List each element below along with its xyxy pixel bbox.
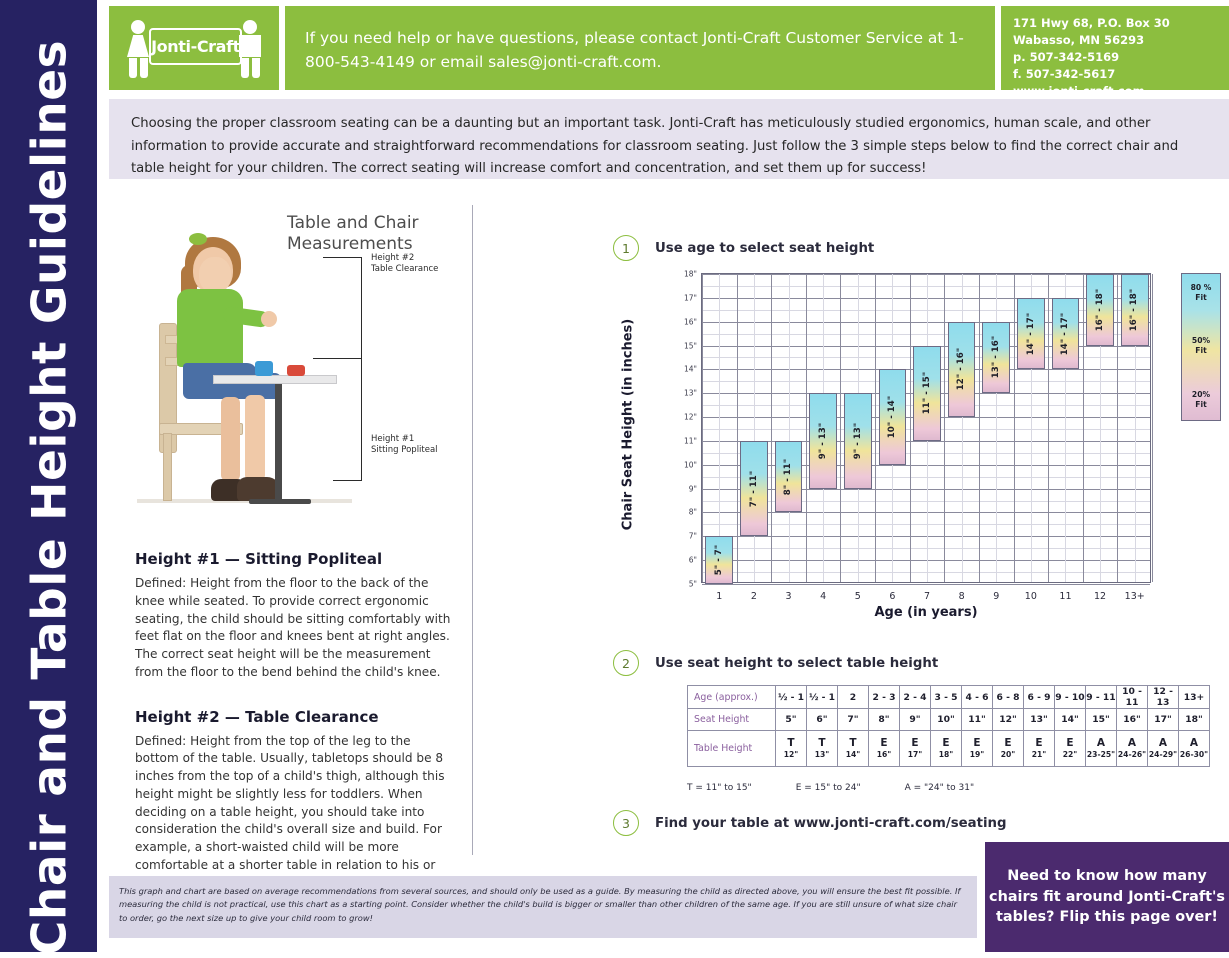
chart-vgridline — [1117, 274, 1118, 582]
table-cell: E16" — [869, 731, 900, 767]
legend-50-fit: 50% Fit — [1182, 336, 1220, 357]
chart-y-axis-label: Chair Seat Height (in inches) — [621, 300, 636, 550]
chart-y-tick: 12" — [684, 413, 697, 422]
table-cell: 10" — [931, 709, 962, 731]
step-3: 3 Find your table at www.jonti-craft.com… — [613, 810, 1007, 836]
chart-bar-label: 5" - 7" — [714, 545, 724, 575]
chart-legend: 80 % Fit 50% Fit 20% Fit — [1181, 273, 1221, 421]
callout-height-1: Height #1 Sitting Popliteal — [371, 434, 438, 457]
chart-bar-label: 12" - 16" — [957, 348, 967, 390]
chart-y-tick: 6" — [689, 556, 697, 565]
table-cell: E20" — [993, 731, 1024, 767]
callout-height-1-sub: Sitting Popliteal — [371, 445, 438, 456]
phone-line: p. 507-342-5169 — [1013, 49, 1170, 66]
chart-x-tick: 11 — [1059, 591, 1071, 602]
table-row-header: Age (approx.) — [688, 686, 776, 709]
step-1-number: 1 — [613, 235, 639, 261]
step-3-label[interactable]: Find your table at www.jonti-craft.com/s… — [655, 816, 1007, 831]
callout-height-2-sub: Table Clearance — [371, 264, 438, 275]
callout-height-1-title: Height #1 — [371, 434, 438, 445]
chart-x-tick: 8 — [959, 591, 965, 602]
chart-x-tick: 4 — [820, 591, 826, 602]
chart-x-tick: 10 — [1025, 591, 1037, 602]
chart-bar-label: 9" - 13" — [853, 423, 863, 459]
table-cell: 6 - 9 — [1024, 686, 1055, 709]
chart-y-tick: 18" — [684, 270, 697, 279]
chart-bar-label: 16" - 18" — [1095, 289, 1105, 331]
website-link[interactable]: www.jonti-craft.com — [1013, 83, 1170, 100]
table-cell: E17" — [900, 731, 931, 767]
chart-vgridline — [840, 274, 841, 582]
table-row: Table HeightT12"T13"T14"E16"E17"E18"E19"… — [688, 731, 1210, 767]
callout-height-2-title: Height #2 — [371, 253, 438, 264]
disclaimer-text: This graph and chart are based on averag… — [119, 885, 965, 925]
table-row-header: Seat Height — [688, 709, 776, 731]
key-t: T = 11" to 15" — [687, 783, 752, 793]
chart-bar-label: 8" - 11" — [784, 458, 794, 494]
table-cell: T14" — [838, 731, 869, 767]
jonti-craft-logo: Jonti-Craft — [109, 6, 279, 90]
chart-vgridline — [1048, 274, 1049, 582]
legend-20-fit: 20% Fit — [1182, 390, 1220, 411]
disclaimer-band: This graph and chart are based on averag… — [109, 876, 977, 938]
chart-x-tick: 7 — [924, 591, 930, 602]
table-cell: 7" — [838, 709, 869, 731]
table-key: T = 11" to 15" E = 15" to 24" A = "24" t… — [687, 783, 1007, 793]
contact-message: If you need help or have questions, plea… — [305, 26, 985, 74]
chart-bar: 12" - 16" — [948, 322, 976, 417]
step-2-label: Use seat height to select table height — [655, 656, 938, 671]
table-cell: E21" — [1024, 731, 1055, 767]
chart-y-tick: 14" — [684, 365, 697, 374]
chart-x-tick: 2 — [751, 591, 757, 602]
chart-vgridline — [1083, 274, 1084, 582]
seat-height-chart: Chair Seat Height (in inches) 5"6"7"8"9"… — [645, 267, 1229, 627]
chart-bar: 9" - 13" — [809, 393, 837, 488]
step-1: 1 Use age to select seat height — [613, 235, 874, 261]
table-cell: 15" — [1086, 709, 1117, 731]
address-line-1: 171 Hwy 68, P.O. Box 30 — [1013, 15, 1170, 32]
chart-bar-label: 13" - 16" — [991, 336, 1001, 378]
table-cell: 9 - 10 — [1055, 686, 1086, 709]
chart-bar: 8" - 11" — [775, 441, 803, 513]
table-cell: 18" — [1179, 709, 1210, 731]
chart-vgridline — [979, 274, 980, 582]
chart-bar: 11" - 15" — [913, 346, 941, 441]
table-cell: 13+ — [1179, 686, 1210, 709]
table-cell: A23-25" — [1086, 731, 1117, 767]
height2-heading: Height #2 — Table Clearance — [135, 708, 455, 726]
logo-wordmark: Jonti-Craft — [151, 37, 240, 56]
key-a: A = "24" to 31" — [905, 783, 975, 793]
page-body: Jonti-Craft If you need help or have que… — [97, 0, 1229, 952]
chart-x-tick: 9 — [993, 591, 999, 602]
table-cell: 16" — [1117, 709, 1148, 731]
chart-bar: 9" - 13" — [844, 393, 872, 488]
sizing-table: Age (approx.)½ - 1½ - 122 - 32 - 43 - 54… — [687, 685, 1210, 767]
chart-y-tick: 15" — [684, 341, 697, 350]
chart-bar: 10" - 14" — [879, 369, 907, 464]
chart-vgridline-minor — [789, 274, 790, 582]
chart-bar: 14" - 17" — [1017, 298, 1045, 370]
table-row: Seat Height5"6"7"8"9"10"11"12"13"14"15"1… — [688, 709, 1210, 731]
height1-heading: Height #1 — Sitting Popliteal — [135, 550, 455, 568]
fax-line: f. 507-342-5617 — [1013, 66, 1170, 83]
chart-x-tick: 12 — [1094, 591, 1106, 602]
chart-vgridline — [702, 274, 703, 582]
chart-vgridline — [737, 274, 738, 582]
step-2-number: 2 — [613, 650, 639, 676]
chart-vgridline — [806, 274, 807, 582]
table-cell: T13" — [807, 731, 838, 767]
key-e: E = 15" to 24" — [796, 783, 861, 793]
table-cell: E18" — [931, 731, 962, 767]
table-row: Age (approx.)½ - 1½ - 122 - 32 - 43 - 54… — [688, 686, 1210, 709]
table-cell: ½ - 1 — [776, 686, 807, 709]
table-cell: 17" — [1148, 709, 1179, 731]
table-cell: A24-26" — [1117, 731, 1148, 767]
chart-bar: 7" - 11" — [740, 441, 768, 536]
legend-80-fit: 80 % Fit — [1182, 283, 1220, 304]
chart-y-tick: 8" — [689, 508, 697, 517]
page-title: Chair and Table Height Guidelines — [23, 38, 78, 958]
chart-bar-label: 10" - 14" — [887, 396, 897, 438]
chart-y-tick: 9" — [689, 484, 697, 493]
chart-y-tick: 5" — [689, 580, 697, 589]
chart-bar-label: 9" - 13" — [818, 423, 828, 459]
chart-bar: 16" - 18" — [1121, 274, 1149, 346]
chart-x-tick: 13+ — [1125, 591, 1145, 602]
chart-y-tick: 11" — [684, 436, 697, 445]
table-cell: 10 - 11 — [1117, 686, 1148, 709]
chart-x-tick: 3 — [786, 591, 792, 602]
chart-vgridline — [910, 274, 911, 582]
definition-blocks: Height #1 — Sitting Popliteal Defined: H… — [135, 550, 455, 918]
chart-bar-label: 7" - 11" — [749, 470, 759, 506]
table-cell: E19" — [962, 731, 993, 767]
chart-vgridline — [875, 274, 876, 582]
table-cell: 12 - 13 — [1148, 686, 1179, 709]
step-3-number: 3 — [613, 810, 639, 836]
chart-vgridline-minor — [996, 274, 997, 582]
measurement-callouts: Height #2 Table Clearance Height #1 Sitt… — [313, 227, 473, 527]
chart-y-tick: 16" — [684, 317, 697, 326]
chart-y-tick: 17" — [684, 293, 697, 302]
chart-x-axis-label: Age (in years) — [701, 605, 1151, 620]
step-2: 2 Use seat height to select table height — [613, 650, 938, 676]
chart-bar-label: 14" - 17" — [1026, 312, 1036, 354]
chart-bar: 16" - 18" — [1086, 274, 1114, 346]
header: Jonti-Craft If you need help or have que… — [109, 6, 1229, 90]
table-cell: 11" — [962, 709, 993, 731]
chart-bar: 5" - 7" — [705, 536, 733, 584]
chart-x-tick: 6 — [889, 591, 895, 602]
chart-bar-label: 14" - 17" — [1060, 312, 1070, 354]
table-cell: 13" — [1024, 709, 1055, 731]
chart-y-tick: 7" — [689, 532, 697, 541]
table-cell: A24-29" — [1148, 731, 1179, 767]
chart-vgridline-minor — [962, 274, 963, 582]
chart-bar: 13" - 16" — [982, 322, 1010, 394]
table-cell: 2 — [838, 686, 869, 709]
table-cell: E22" — [1055, 731, 1086, 767]
table-cell: ½ - 1 — [807, 686, 838, 709]
table-cell: 3 - 5 — [931, 686, 962, 709]
chart-plot-area: 5"6"7"8"9"10"11"12"13"14"15"16"17"18"123… — [701, 273, 1151, 583]
address-line-2: Wabasso, MN 56293 — [1013, 32, 1170, 49]
chart-bar: 14" - 17" — [1052, 298, 1080, 370]
chart-x-tick: 1 — [716, 591, 722, 602]
logo-girl-figure-icon — [125, 20, 151, 78]
table-cell: 9 - 11 — [1086, 686, 1117, 709]
sidebar-banner: Chair and Table Height Guidelines — [0, 0, 97, 952]
intro-text: Choosing the proper classroom seating ca… — [131, 113, 1209, 181]
intro-band: Choosing the proper classroom seating ca… — [109, 99, 1229, 179]
table-cell: 9" — [900, 709, 931, 731]
table-cell: 12" — [993, 709, 1024, 731]
sizing-table-wrap: Age (approx.)½ - 1½ - 122 - 32 - 43 - 54… — [687, 685, 1210, 767]
height1-body: Defined: Height from the floor to the ba… — [135, 575, 455, 682]
chart-vgridline — [1014, 274, 1015, 582]
chart-bar-label: 11" - 15" — [922, 372, 932, 414]
callout-height-2: Height #2 Table Clearance — [371, 253, 438, 276]
table-row-header: Table Height — [688, 731, 776, 767]
company-address: 171 Hwy 68, P.O. Box 30 Wabasso, MN 5629… — [1013, 15, 1170, 100]
table-cell: A26-30" — [1179, 731, 1210, 767]
chart-vgridline — [771, 274, 772, 582]
table-cell: 5" — [776, 709, 807, 731]
height2-body: Defined: Height from the top of the leg … — [135, 733, 455, 893]
logo-sign: Jonti-Craft — [149, 28, 242, 65]
chart-y-tick: 10" — [684, 460, 697, 469]
step-1-label: Use age to select seat height — [655, 241, 874, 256]
chart-x-tick: 5 — [855, 591, 861, 602]
flip-page-callout: Need to know how many chairs fit around … — [985, 842, 1229, 952]
column-divider — [472, 205, 473, 855]
chart-vgridline — [1152, 274, 1153, 582]
table-cell: 14" — [1055, 709, 1086, 731]
chart-vgridline — [944, 274, 945, 582]
table-cell: 2 - 3 — [869, 686, 900, 709]
table-cell: 6 - 8 — [993, 686, 1024, 709]
table-cell: T12" — [776, 731, 807, 767]
table-cell: 4 - 6 — [962, 686, 993, 709]
table-cell: 8" — [869, 709, 900, 731]
table-cell: 2 - 4 — [900, 686, 931, 709]
chart-y-tick: 13" — [684, 389, 697, 398]
flip-page-text: Need to know how many chairs fit around … — [985, 866, 1229, 929]
table-cell: 6" — [807, 709, 838, 731]
chart-hgridline — [702, 584, 1150, 585]
chart-bar-label: 16" - 18" — [1130, 289, 1140, 331]
